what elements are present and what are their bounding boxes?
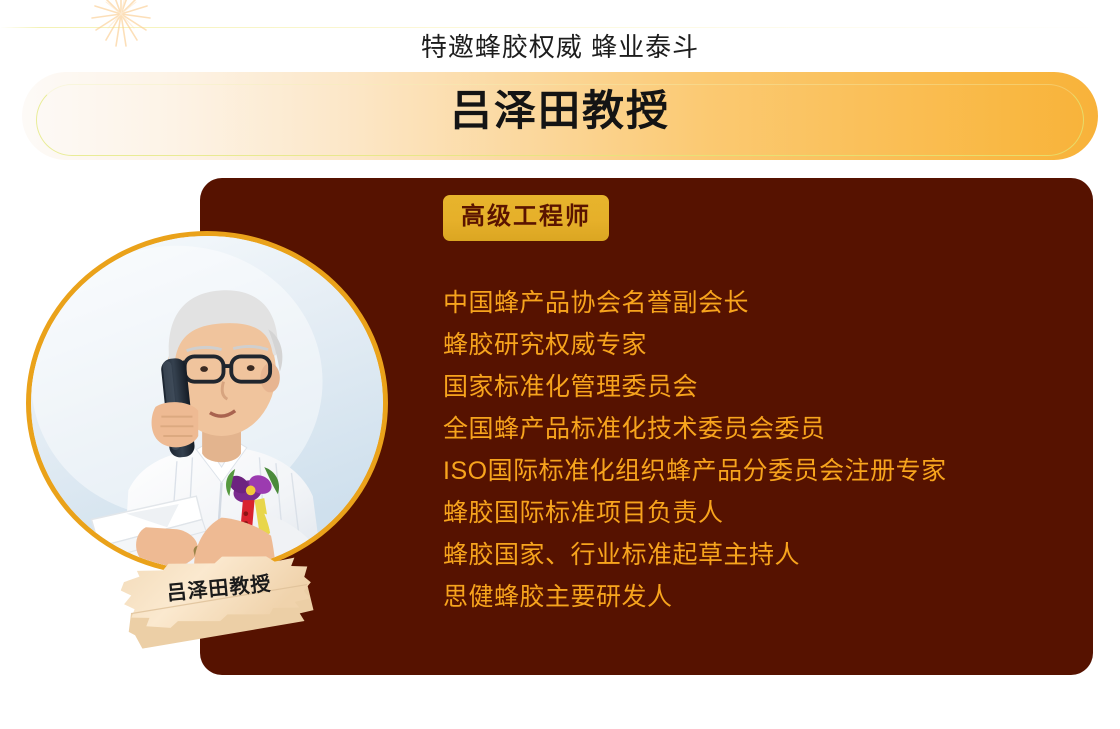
list-item: 全国蜂产品标准化技术委员会委员 xyxy=(443,408,1063,450)
list-item: 国家标准化管理委员会 xyxy=(443,366,1063,408)
list-item: ISO国际标准化组织蜂产品分委员会注册专家 xyxy=(443,450,1063,492)
list-item: 中国蜂产品协会名誉副会长 xyxy=(443,282,1063,324)
portrait-illustration xyxy=(31,236,383,570)
expert-profile-card: 特邀蜂胶权威 蜂业泰斗 吕泽田教授 高级工程师 中国蜂产品协会名誉副会长 蜂胶研… xyxy=(0,0,1120,729)
list-item: 蜂胶研究权威专家 xyxy=(443,324,1063,366)
list-item: 蜂胶国际标准项目负责人 xyxy=(443,492,1063,534)
page-title: 吕泽田教授 xyxy=(22,72,1098,142)
portrait-photo xyxy=(26,231,388,575)
name-banner: 吕泽田教授 xyxy=(22,72,1098,160)
status-badge: 高级工程师 xyxy=(443,195,609,241)
eyebrow-headline: 特邀蜂胶权威 蜂业泰斗 xyxy=(0,27,1120,67)
list-item: 思健蜂胶主要研发人 xyxy=(443,576,1063,618)
credentials-list: 中国蜂产品协会名誉副会长 蜂胶研究权威专家 国家标准化管理委员会 全国蜂产品标准… xyxy=(443,282,1063,618)
list-item: 蜂胶国家、行业标准起草主持人 xyxy=(443,534,1063,576)
